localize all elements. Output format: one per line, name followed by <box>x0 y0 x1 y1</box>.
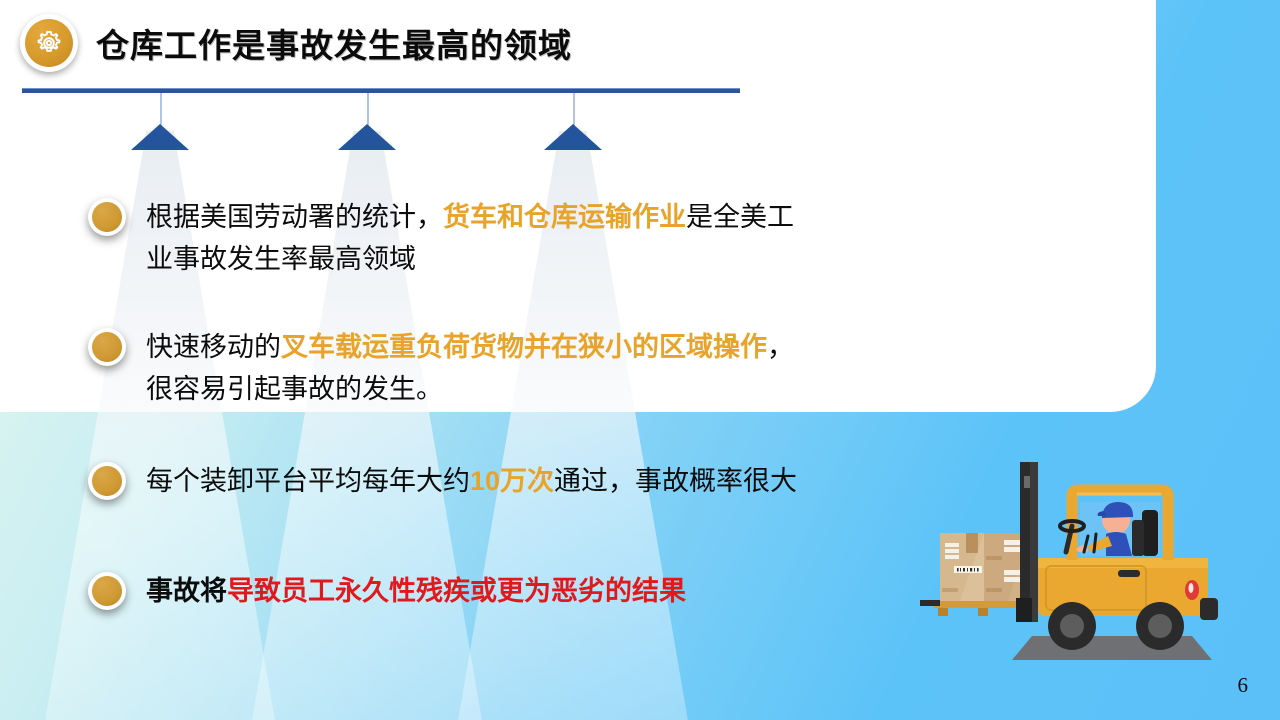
slide-header: 仓库工作是事故发生最高的领域 <box>0 14 572 72</box>
bullet-text-2: 快速移动的叉车载运重负荷货物并在狭小的区域操作， 很容易引起事故的发生。 <box>146 326 794 410</box>
forklift-illustration <box>920 448 1260 693</box>
bullet-item-3: 每个装卸平台平均每年大约10万次通过，事故概率很大 <box>88 460 797 502</box>
bullet-text-4: 事故将导致员工永久性残疾或更为恶劣的结果 <box>146 570 686 612</box>
bullet-item-1: 根据美国劳动署的统计，货车和仓库运输作业是全美工 业事故发生率最高领域 <box>88 196 794 280</box>
bullet-marker <box>88 572 126 610</box>
title-divider <box>22 88 740 93</box>
lamp-shade-3 <box>544 124 602 150</box>
text-segment: 货车和仓库运输作业 <box>443 202 686 232</box>
lamp-shade-2 <box>338 124 396 150</box>
bullet-marker <box>88 198 126 236</box>
text-segment: 每个装卸平台平均每年大约 <box>146 466 470 496</box>
text-segment: 事故将 <box>146 576 227 606</box>
bullet-text-1: 根据美国劳动署的统计，货车和仓库运输作业是全美工 业事故发生率最高领域 <box>146 196 794 280</box>
page-number: 6 <box>1238 673 1249 698</box>
text-segment: 10万次 <box>470 466 554 496</box>
bullet-item-2: 快速移动的叉车载运重负荷货物并在狭小的区域操作， 很容易引起事故的发生。 <box>88 326 794 410</box>
gear-icon <box>20 14 78 72</box>
lamp-shade-1 <box>131 124 189 150</box>
text-segment: 叉车载运重负荷货物并在狭小的区域操作 <box>281 332 767 362</box>
text-segment: 通过，事故概率很大 <box>554 466 797 496</box>
bullet-marker <box>88 462 126 500</box>
presentation-slide: 仓库工作是事故发生最高的领域 根据美国劳动署的统计，货车和仓库运输作业是全美工 … <box>0 0 1280 720</box>
text-segment: 根据美国劳动署的统计， <box>146 202 443 232</box>
text-segment: 导致员工永久性残疾或更为恶劣的结果 <box>227 576 686 606</box>
bullet-item-4: 事故将导致员工永久性残疾或更为恶劣的结果 <box>88 570 686 612</box>
bullet-text-3: 每个装卸平台平均每年大约10万次通过，事故概率很大 <box>146 460 797 502</box>
text-segment: 快速移动的 <box>146 332 281 362</box>
page-title: 仓库工作是事故发生最高的领域 <box>96 19 572 67</box>
bullet-marker <box>88 328 126 366</box>
